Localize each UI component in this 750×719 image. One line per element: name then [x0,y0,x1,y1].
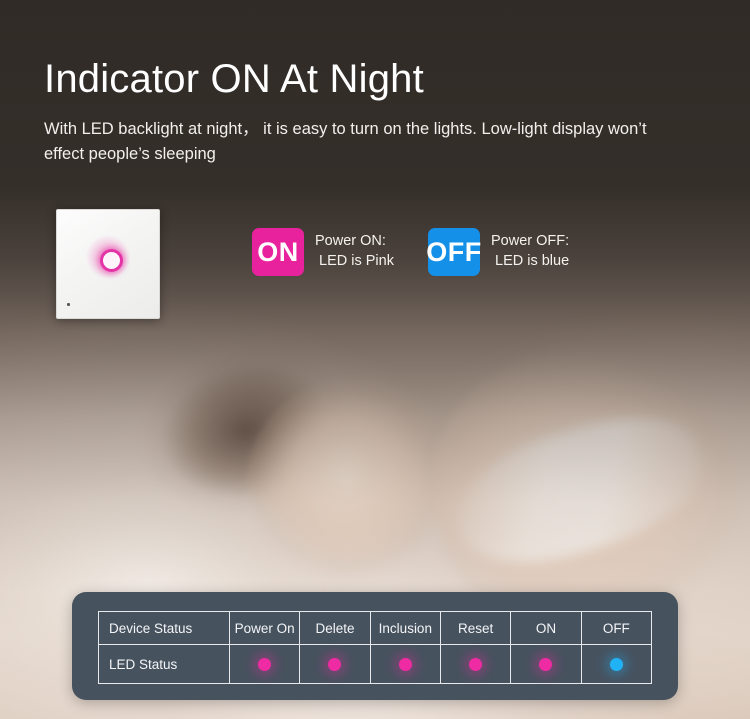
header-delete: Delete [300,612,370,645]
header-inclusion: Inclusion [370,612,440,645]
led-cell-power-on [230,645,300,684]
led-indicator-pink-icon [399,658,412,671]
led-indicator-pink-icon [258,658,271,671]
header-on: ON [511,612,581,645]
off-label-line2: LED is blue [491,251,569,271]
led-indicator-blue-icon [610,658,623,671]
led-cell-reset [440,645,510,684]
power-on-legend: ON Power ON: LED is Pink [252,228,394,276]
led-cell-delete [300,645,370,684]
touch-switch-product-image [56,209,160,319]
table-header-row: Device Status Power On Delete Inclusion … [99,612,652,645]
off-badge: OFF [428,228,480,276]
led-cell-on [511,645,581,684]
header-power-on: Power On [230,612,300,645]
led-status-table: Device Status Power On Delete Inclusion … [98,611,652,684]
off-label-line1: Power OFF: [491,233,569,249]
led-cell-off [581,645,651,684]
header-off: OFF [581,612,651,645]
led-indicator-pink-icon [539,658,552,671]
header-reset: Reset [440,612,510,645]
power-off-legend: OFF Power OFF: LED is blue [428,228,569,276]
led-indicator-pink-icon [328,658,341,671]
page-subtitle: With LED backlight at night， it is easy … [44,117,679,167]
row-label-led-status: LED Status [99,645,230,684]
page-title: Indicator ON At Night [44,57,424,102]
table-row: LED Status [99,645,652,684]
led-indicator-pink-icon [469,658,482,671]
off-badge-label: Power OFF: LED is blue [491,231,569,271]
on-badge-label: Power ON: LED is Pink [315,231,394,271]
switch-status-dot-icon [67,303,70,306]
led-cell-inclusion [370,645,440,684]
on-label-line1: Power ON: [315,233,386,249]
header-device-status: Device Status [99,612,230,645]
led-ring-indicator-icon [100,249,123,272]
page-root: Indicator ON At Night With LED backlight… [0,0,750,719]
on-label-line2: LED is Pink [315,251,394,271]
led-status-panel: Device Status Power On Delete Inclusion … [72,592,678,700]
on-badge: ON [252,228,304,276]
